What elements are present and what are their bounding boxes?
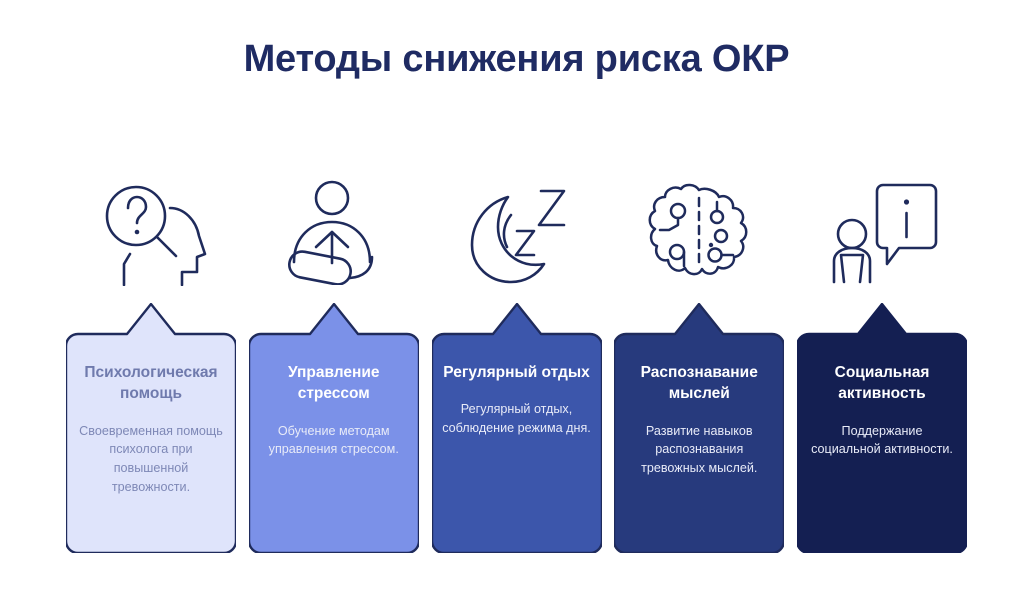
card-heading: Психологическая помощь: [76, 362, 226, 405]
moon-sleep-icon: [432, 160, 602, 303]
meditating-person-icon: [249, 160, 419, 303]
card-regular-rest[interactable]: Регулярный отдых Регулярный отдых, соблю…: [432, 160, 602, 560]
card-heading: Распознавание мыслей: [624, 362, 774, 405]
card-body: Управление стрессом Обучение методам упр…: [249, 303, 419, 553]
brain-circuit-icon: [614, 160, 784, 303]
card-heading: Социальная активность: [807, 362, 957, 405]
card-heading: Управление стрессом: [259, 362, 409, 405]
card-body: Психологическая помощь Своевременная пом…: [66, 303, 236, 553]
person-info-bubble-icon: [797, 160, 967, 303]
card-thought-recognition[interactable]: Распознавание мыслей Развитие навыков ра…: [614, 160, 784, 560]
card-social-activity[interactable]: Социальная активность Поддержание социал…: [797, 160, 967, 560]
card-body: Социальная активность Поддержание социал…: [797, 303, 967, 553]
card-stress-management[interactable]: Управление стрессом Обучение методам упр…: [249, 160, 419, 560]
card-body: Распознавание мыслей Развитие навыков ра…: [614, 303, 784, 553]
head-magnifier-question-icon: [66, 160, 236, 303]
card-description: Своевременная помощь психолога при повыш…: [76, 422, 226, 497]
card-description: Обучение методам управления стрессом.: [259, 422, 409, 459]
card-description: Развитие навыков распознавания тревожных…: [624, 422, 774, 478]
card-description: Поддержание социальной активности.: [807, 422, 957, 459]
card-body: Регулярный отдых Регулярный отдых, соблю…: [432, 303, 602, 553]
card-description: Регулярный отдых, соблюдение режима дня.: [442, 400, 592, 437]
page-title: Методы снижения риска ОКР: [0, 38, 1033, 81]
card-heading: Регулярный отдых: [442, 362, 592, 383]
cards-row: Психологическая помощь Своевременная пом…: [66, 160, 967, 560]
card-psychological-help[interactable]: Психологическая помощь Своевременная пом…: [66, 160, 236, 560]
